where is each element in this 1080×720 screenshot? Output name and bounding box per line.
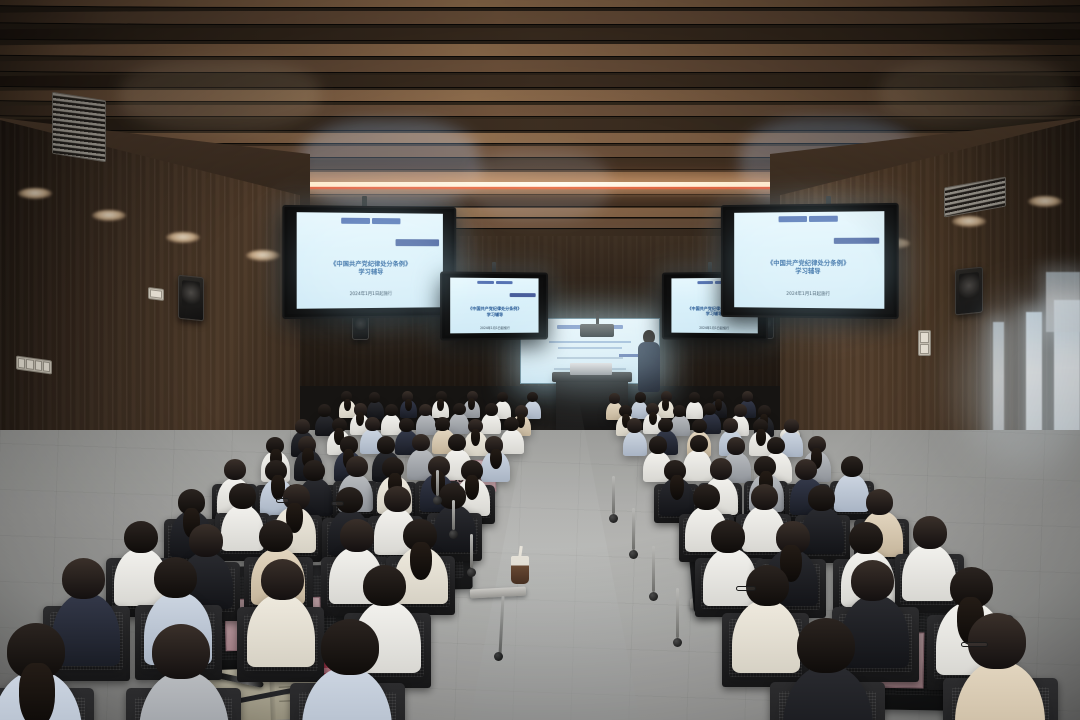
audience-member <box>955 613 1045 720</box>
chair-leg <box>676 588 679 638</box>
audience-ponytail <box>405 399 412 411</box>
audience-head <box>851 560 894 601</box>
audience-head <box>703 403 716 415</box>
audience-head <box>609 393 620 404</box>
audience-head <box>913 516 947 549</box>
audience-head <box>318 404 331 416</box>
audience-member <box>139 624 229 720</box>
audience-head <box>377 436 395 453</box>
chair-caster <box>467 568 476 577</box>
audience-glasses <box>736 586 756 591</box>
audience-head <box>723 418 738 432</box>
audience-head <box>692 419 707 433</box>
audience-ponytail <box>662 399 669 411</box>
audience-glasses <box>331 501 344 506</box>
audience-head <box>369 392 380 403</box>
audience <box>0 0 1080 720</box>
chair-caster <box>609 514 618 523</box>
audience-head <box>152 624 210 680</box>
audience-head <box>224 459 246 480</box>
audience-ponytail <box>19 663 55 720</box>
audience-body <box>955 661 1045 720</box>
audience-head <box>693 484 720 510</box>
audience-head <box>673 405 686 417</box>
chair-leg <box>612 476 615 514</box>
chair-caster <box>629 550 638 559</box>
audience-head <box>229 483 256 509</box>
audience-head <box>399 418 414 432</box>
audience-head <box>154 557 197 598</box>
chair-leg <box>652 546 655 592</box>
audience-head <box>711 520 745 553</box>
audience-head <box>635 392 646 403</box>
audience-head <box>658 418 673 432</box>
audience-ponytail <box>670 475 684 500</box>
audience-head <box>968 613 1026 669</box>
audience-head <box>346 456 368 477</box>
audience-head <box>295 419 310 433</box>
audience-head <box>385 404 398 416</box>
audience-head <box>727 437 745 454</box>
chair-caster <box>673 638 682 647</box>
conference-hall-photo: 《中国共产党纪律处分条例》 学习辅导 2024年1月1日起施行 西安市委党校教授… <box>0 0 1080 720</box>
audience-head <box>453 403 466 415</box>
audience-member <box>302 619 392 720</box>
audience-head <box>261 559 304 600</box>
chair-caster <box>449 530 458 539</box>
audience-head <box>62 558 105 599</box>
chair-caster-left <box>494 652 503 661</box>
audience-head <box>690 435 708 452</box>
audience-head <box>841 456 863 477</box>
audience-head <box>435 417 450 431</box>
audience-head <box>485 403 498 415</box>
audience-head <box>497 392 508 403</box>
audience-head <box>849 522 883 555</box>
chair-leg <box>436 470 439 496</box>
audience-head <box>412 434 430 451</box>
audience-head <box>363 565 406 606</box>
coffee-cup <box>511 556 529 584</box>
audience-member <box>783 618 873 720</box>
audience-head <box>784 419 799 433</box>
audience-head <box>689 392 700 403</box>
chair-leg <box>452 500 455 530</box>
audience-head <box>797 618 855 674</box>
audience-head <box>527 392 538 403</box>
audience-glasses <box>961 642 988 647</box>
audience-head <box>189 524 223 557</box>
chair-leg <box>470 534 473 568</box>
audience-head <box>627 418 642 432</box>
audience-glasses <box>276 498 289 503</box>
audience-ponytail <box>437 399 444 411</box>
audience-head <box>321 619 379 675</box>
audience-head <box>795 459 817 480</box>
audience-member <box>400 391 417 417</box>
chair-leg <box>632 508 635 550</box>
audience-head <box>751 484 778 510</box>
chair-caster <box>433 496 442 505</box>
audience-head <box>303 460 325 481</box>
chair-caster <box>649 592 658 601</box>
audience-head <box>734 404 747 416</box>
audience-head <box>866 489 893 515</box>
audience-head <box>808 485 835 511</box>
audience-head <box>448 434 466 451</box>
audience-head <box>767 437 785 454</box>
audience-head <box>710 458 732 479</box>
audience-head <box>365 417 380 431</box>
audience-head <box>259 520 293 553</box>
audience-head <box>340 519 374 552</box>
audience-head <box>649 436 667 453</box>
audience-member <box>0 623 82 720</box>
audience-ponytail <box>490 449 502 469</box>
audience-body <box>783 665 873 720</box>
audience-head <box>742 391 753 402</box>
audience-head <box>504 417 519 431</box>
audience-head <box>124 521 158 554</box>
audience-head <box>384 486 411 512</box>
